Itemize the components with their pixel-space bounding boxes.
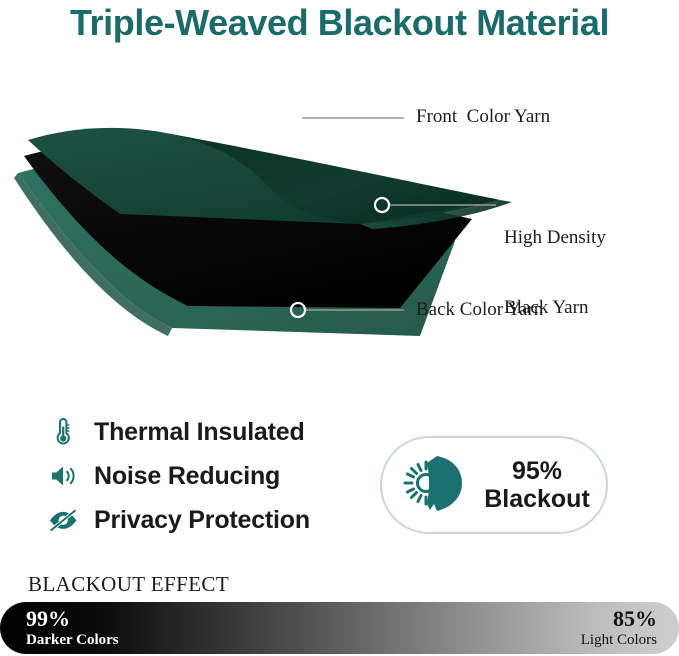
- blackout-badge-text: 95% Blackout: [476, 457, 606, 513]
- feature-item-privacy-protection: Privacy Protection: [46, 498, 376, 542]
- blackout-badge: 95% Blackout: [380, 436, 608, 534]
- callout-label-front: Front Color Yarn: [416, 105, 550, 128]
- feature-label-thermal-insulated: Thermal Insulated: [94, 418, 305, 447]
- callout-label-back: Back Color Yarn: [416, 298, 543, 321]
- blackout-effect-darker-percent: 99%: [26, 606, 119, 632]
- blackout-effect-darker: 99% Darker Colors: [26, 606, 119, 649]
- sun-blocked-icon: [398, 450, 476, 520]
- blackout-effect-light-label: Light Colors: [581, 632, 657, 649]
- blackout-effect-darker-label: Darker Colors: [26, 632, 119, 649]
- thermometer-icon: [46, 415, 80, 449]
- callout-dot-front: [287, 111, 301, 125]
- feature-item-thermal-insulated: Thermal Insulated: [46, 410, 376, 454]
- blackout-effect-light-percent: 85%: [581, 606, 657, 632]
- page-title: Triple-Weaved Blackout Material: [0, 2, 679, 44]
- feature-item-noise-reducing: Noise Reducing: [46, 454, 376, 498]
- eye-slash-icon: [46, 503, 80, 537]
- blackout-effect-gradient-bar: 99% Darker Colors 85% Light Colors: [0, 602, 679, 654]
- callout-label-middle-line1: High Density: [504, 226, 606, 249]
- blackout-effect-light: 85% Light Colors: [581, 606, 657, 649]
- feature-label-privacy-protection: Privacy Protection: [94, 506, 310, 535]
- feature-label-noise-reducing: Noise Reducing: [94, 462, 280, 491]
- blackout-effect-heading: BLACKOUT EFFECT: [28, 572, 229, 597]
- feature-list: Thermal Insulated Noise Reducing Privacy…: [46, 410, 376, 542]
- blackout-badge-percent: 95%: [512, 457, 562, 485]
- blackout-badge-label: Blackout: [484, 485, 590, 513]
- speaker-sound-icon: [46, 459, 80, 493]
